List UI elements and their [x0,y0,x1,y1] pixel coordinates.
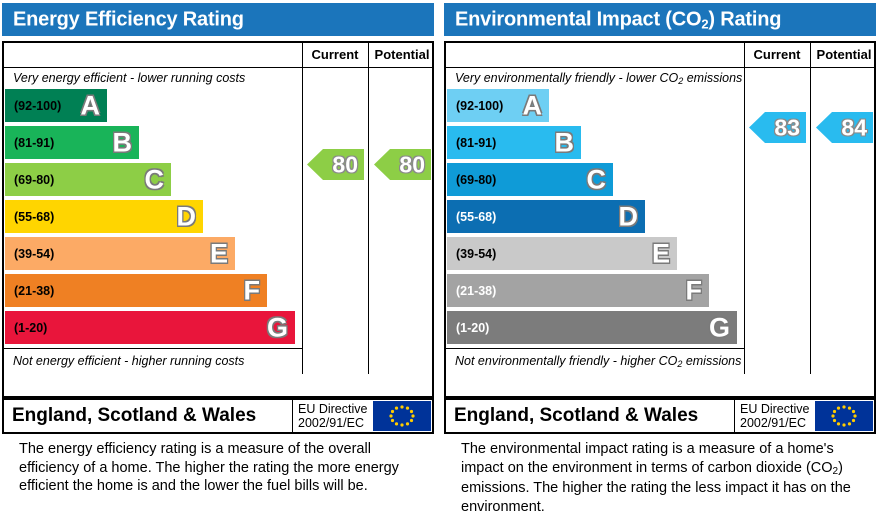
energy-band-f: (21-38) F [5,274,267,307]
env-current-arrow: 83 [749,112,806,143]
env-bottom-caption-subscript: 2 [677,359,682,369]
energy-efficiency-table: Current Potential Very energy efficient … [2,41,434,398]
energy-band-a-letter: A [81,92,101,119]
env-top-caption-post: emissions [683,71,742,85]
env-band-d-range: (55-68) [456,210,496,224]
energy-footer-bar: England, Scotland & Wales EU Directive 2… [2,398,434,434]
environmental-impact-banner: Environmental Impact (CO2) Rating [444,3,876,36]
energy-band-c-letter: C [145,166,165,193]
env-potential-column-header: Potential [810,43,878,68]
env-top-caption: Very environmentally friendly - lower CO… [446,68,744,88]
energy-column-divider-2 [368,43,369,374]
env-band-f-letter: F [686,277,703,304]
env-column-divider-2 [810,43,811,374]
energy-bottom-caption: Not energy efficient - higher running co… [4,348,302,374]
energy-band-g-letter: G [267,314,288,341]
env-band-b-letter: B [555,129,575,156]
env-band-a-letter: A [523,92,543,119]
eu-flag-icon-right [815,401,873,431]
env-band-g: (1-20) G [447,311,737,344]
energy-band-f-range: (21-38) [14,284,54,298]
env-current-rating-marker: 83 [749,112,806,143]
energy-current-column-header: Current [302,43,368,68]
env-title-subscript: 2 [701,16,708,31]
energy-band-g: (1-20) G [5,311,295,344]
env-band-a: (92-100) A [447,89,549,122]
energy-potential-rating-value: 80 [399,153,425,176]
environmental-impact-panel: Environmental Impact (CO2) Rating Curren… [444,0,878,493]
env-band-e: (39-54) E [447,237,677,270]
energy-band-a-range: (92-100) [14,99,61,113]
energy-current-arrow: 80 [307,149,364,180]
env-top-caption-pre: Very environmentally friendly - lower CO [455,71,678,85]
energy-column-divider-1 [302,43,303,374]
energy-current-rating-marker: 80 [307,149,364,180]
env-bottom-caption-pre: Not environmentally friendly - higher CO [455,354,677,368]
eu-flag-icon-left [373,401,431,431]
energy-directive-line1: EU Directive [298,402,367,416]
env-footer-bar: England, Scotland & Wales EU Directive 2… [444,398,876,434]
energy-band-a: (92-100) A [5,89,107,122]
energy-efficiency-title: Energy Efficiency Rating [13,8,244,31]
env-description-text: The environmental impact rating is a mea… [461,440,861,516]
energy-band-e-range: (39-54) [14,247,54,261]
env-band-f-range: (21-38) [456,284,496,298]
env-footer-region: England, Scotland & Wales [454,405,698,427]
energy-potential-arrow: 80 [374,149,431,180]
energy-band-b-range: (81-91) [14,136,54,150]
env-potential-arrow: 84 [816,112,873,143]
env-band-g-range: (1-20) [456,321,489,335]
energy-description-text: The energy efficiency rating is a measur… [19,440,419,496]
env-band-c-letter: C [587,166,607,193]
energy-band-list: (92-100) A (81-91) B (69-80) C (55-68) D… [4,89,302,348]
env-directive-line2: 2002/91/EC [740,416,809,430]
env-band-d-letter: D [619,203,639,230]
energy-footer-region: England, Scotland & Wales [12,405,256,427]
energy-band-d-letter: D [177,203,197,230]
env-band-c: (69-80) C [447,163,613,196]
energy-efficiency-banner: Energy Efficiency Rating [2,3,434,36]
energy-band-f-letter: F [244,277,261,304]
env-description-subscript: 2 [833,466,839,477]
env-bottom-caption: Not environmentally friendly - higher CO… [446,348,744,374]
energy-band-b: (81-91) B [5,126,139,159]
env-current-rating-value: 83 [774,116,800,139]
env-title-pre: Environmental Impact (CO [455,8,701,30]
energy-footer-divider [292,400,293,432]
energy-band-e: (39-54) E [5,237,235,270]
energy-band-b-letter: B [113,129,133,156]
env-description-pre: The environmental impact rating is a mea… [461,441,834,476]
env-band-g-letter: G [709,314,730,341]
env-potential-rating-marker: 84 [816,112,873,143]
env-current-column-header: Current [744,43,810,68]
energy-top-caption: Very energy efficient - lower running co… [4,68,302,88]
eu-flag-stars [373,401,431,431]
env-band-b: (81-91) B [447,126,581,159]
energy-band-c: (69-80) C [5,163,171,196]
env-band-e-letter: E [652,240,670,267]
env-band-c-range: (69-80) [456,173,496,187]
energy-potential-rating-marker: 80 [374,149,431,180]
env-band-d: (55-68) D [447,200,645,233]
env-potential-rating-value: 84 [841,116,867,139]
env-bottom-caption-post: emissions [682,354,741,368]
energy-efficiency-panel: Energy Efficiency Rating Current Potenti… [2,0,436,493]
epc-certificate-graphs: Energy Efficiency Rating Current Potenti… [0,0,880,493]
env-band-f: (21-38) F [447,274,709,307]
env-top-caption-subscript: 2 [678,76,683,86]
env-column-divider-1 [744,43,745,374]
env-band-list: (92-100) A (81-91) B (69-80) C (55-68) D… [446,89,744,348]
energy-footer-directive: EU Directive 2002/91/EC [298,402,367,430]
eu-flag-stars-right [815,401,873,431]
env-footer-directive: EU Directive 2002/91/EC [740,402,809,430]
energy-directive-line2: 2002/91/EC [298,416,367,430]
energy-current-rating-value: 80 [332,153,358,176]
env-directive-line1: EU Directive [740,402,809,416]
env-title-post: ) Rating [708,8,781,30]
env-band-a-range: (92-100) [456,99,503,113]
energy-band-g-range: (1-20) [14,321,47,335]
energy-band-c-range: (69-80) [14,173,54,187]
env-band-e-range: (39-54) [456,247,496,261]
energy-band-d: (55-68) D [5,200,203,233]
environmental-impact-table: Current Potential Very environmentally f… [444,41,876,398]
environmental-impact-title: Environmental Impact (CO2) Rating [455,8,781,31]
env-footer-divider [734,400,735,432]
env-band-b-range: (81-91) [456,136,496,150]
energy-potential-column-header: Potential [368,43,436,68]
energy-band-d-range: (55-68) [14,210,54,224]
energy-band-e-letter: E [210,240,228,267]
